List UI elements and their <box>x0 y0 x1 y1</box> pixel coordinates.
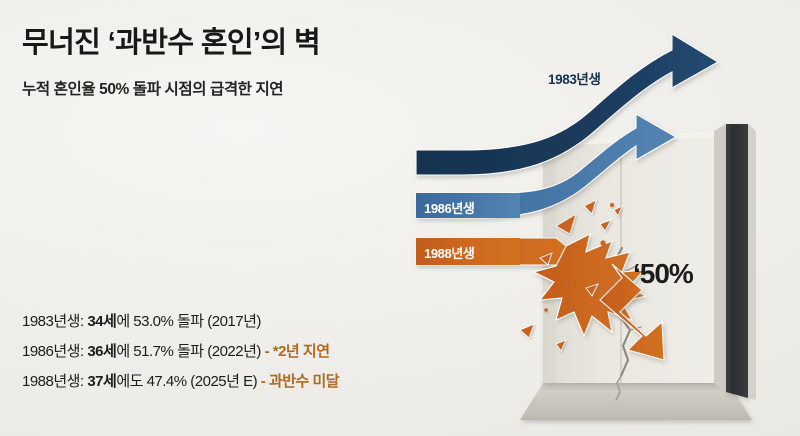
fact-row: 1983년생: 34세에 53.0% 돌파 (2017년) <box>22 314 462 329</box>
arrow-label-1983: 1983년생 <box>548 68 600 88</box>
fact-age: 34세 <box>87 313 116 330</box>
infographic-canvas: 무너진 ‘과반수 혼인’의 벽 누적 혼인율 50% 돌파 시점의 급격한 지연 <box>0 0 800 436</box>
fact-rest: 에 51.7% 돌파 (2022년) <box>116 343 264 360</box>
facts-list: 1983년생: 34세에 53.0% 돌파 (2017년) 1986년생: 36… <box>22 314 462 389</box>
fact-note: - 과반수 미달 <box>261 373 339 390</box>
pillar-left-flange <box>714 124 726 392</box>
fact-cohort: 1983년생: <box>22 313 87 330</box>
fact-cohort: 1986년생: <box>22 343 87 360</box>
pillar-core <box>726 124 748 398</box>
fact-rest: 에 53.0% 돌파 (2017년) <box>116 313 261 330</box>
fact-row: 1986년생: 36세에 51.7% 돌파 (2022년) - *2년 지연 <box>22 344 462 359</box>
fact-rest: 에도 47.4% (2025년 E) <box>116 373 260 390</box>
wall-base <box>520 383 752 420</box>
pillar-right-flange <box>748 124 756 400</box>
fact-age: 36세 <box>87 343 116 360</box>
wall-threshold-label: ‘50% <box>633 258 693 290</box>
arrow-label-1986: 1986년생 <box>424 198 474 217</box>
wall-base-top-edge <box>541 383 731 390</box>
fact-cohort: 1988년생: <box>22 373 87 390</box>
arrow-label-1988: 1988년생 <box>424 243 474 262</box>
fact-row: 1988년생: 37세에도 47.4% (2025년 E) - 과반수 미달 <box>22 374 462 389</box>
fact-age: 37세 <box>87 373 116 390</box>
fact-note: - *2년 지연 <box>265 343 330 360</box>
